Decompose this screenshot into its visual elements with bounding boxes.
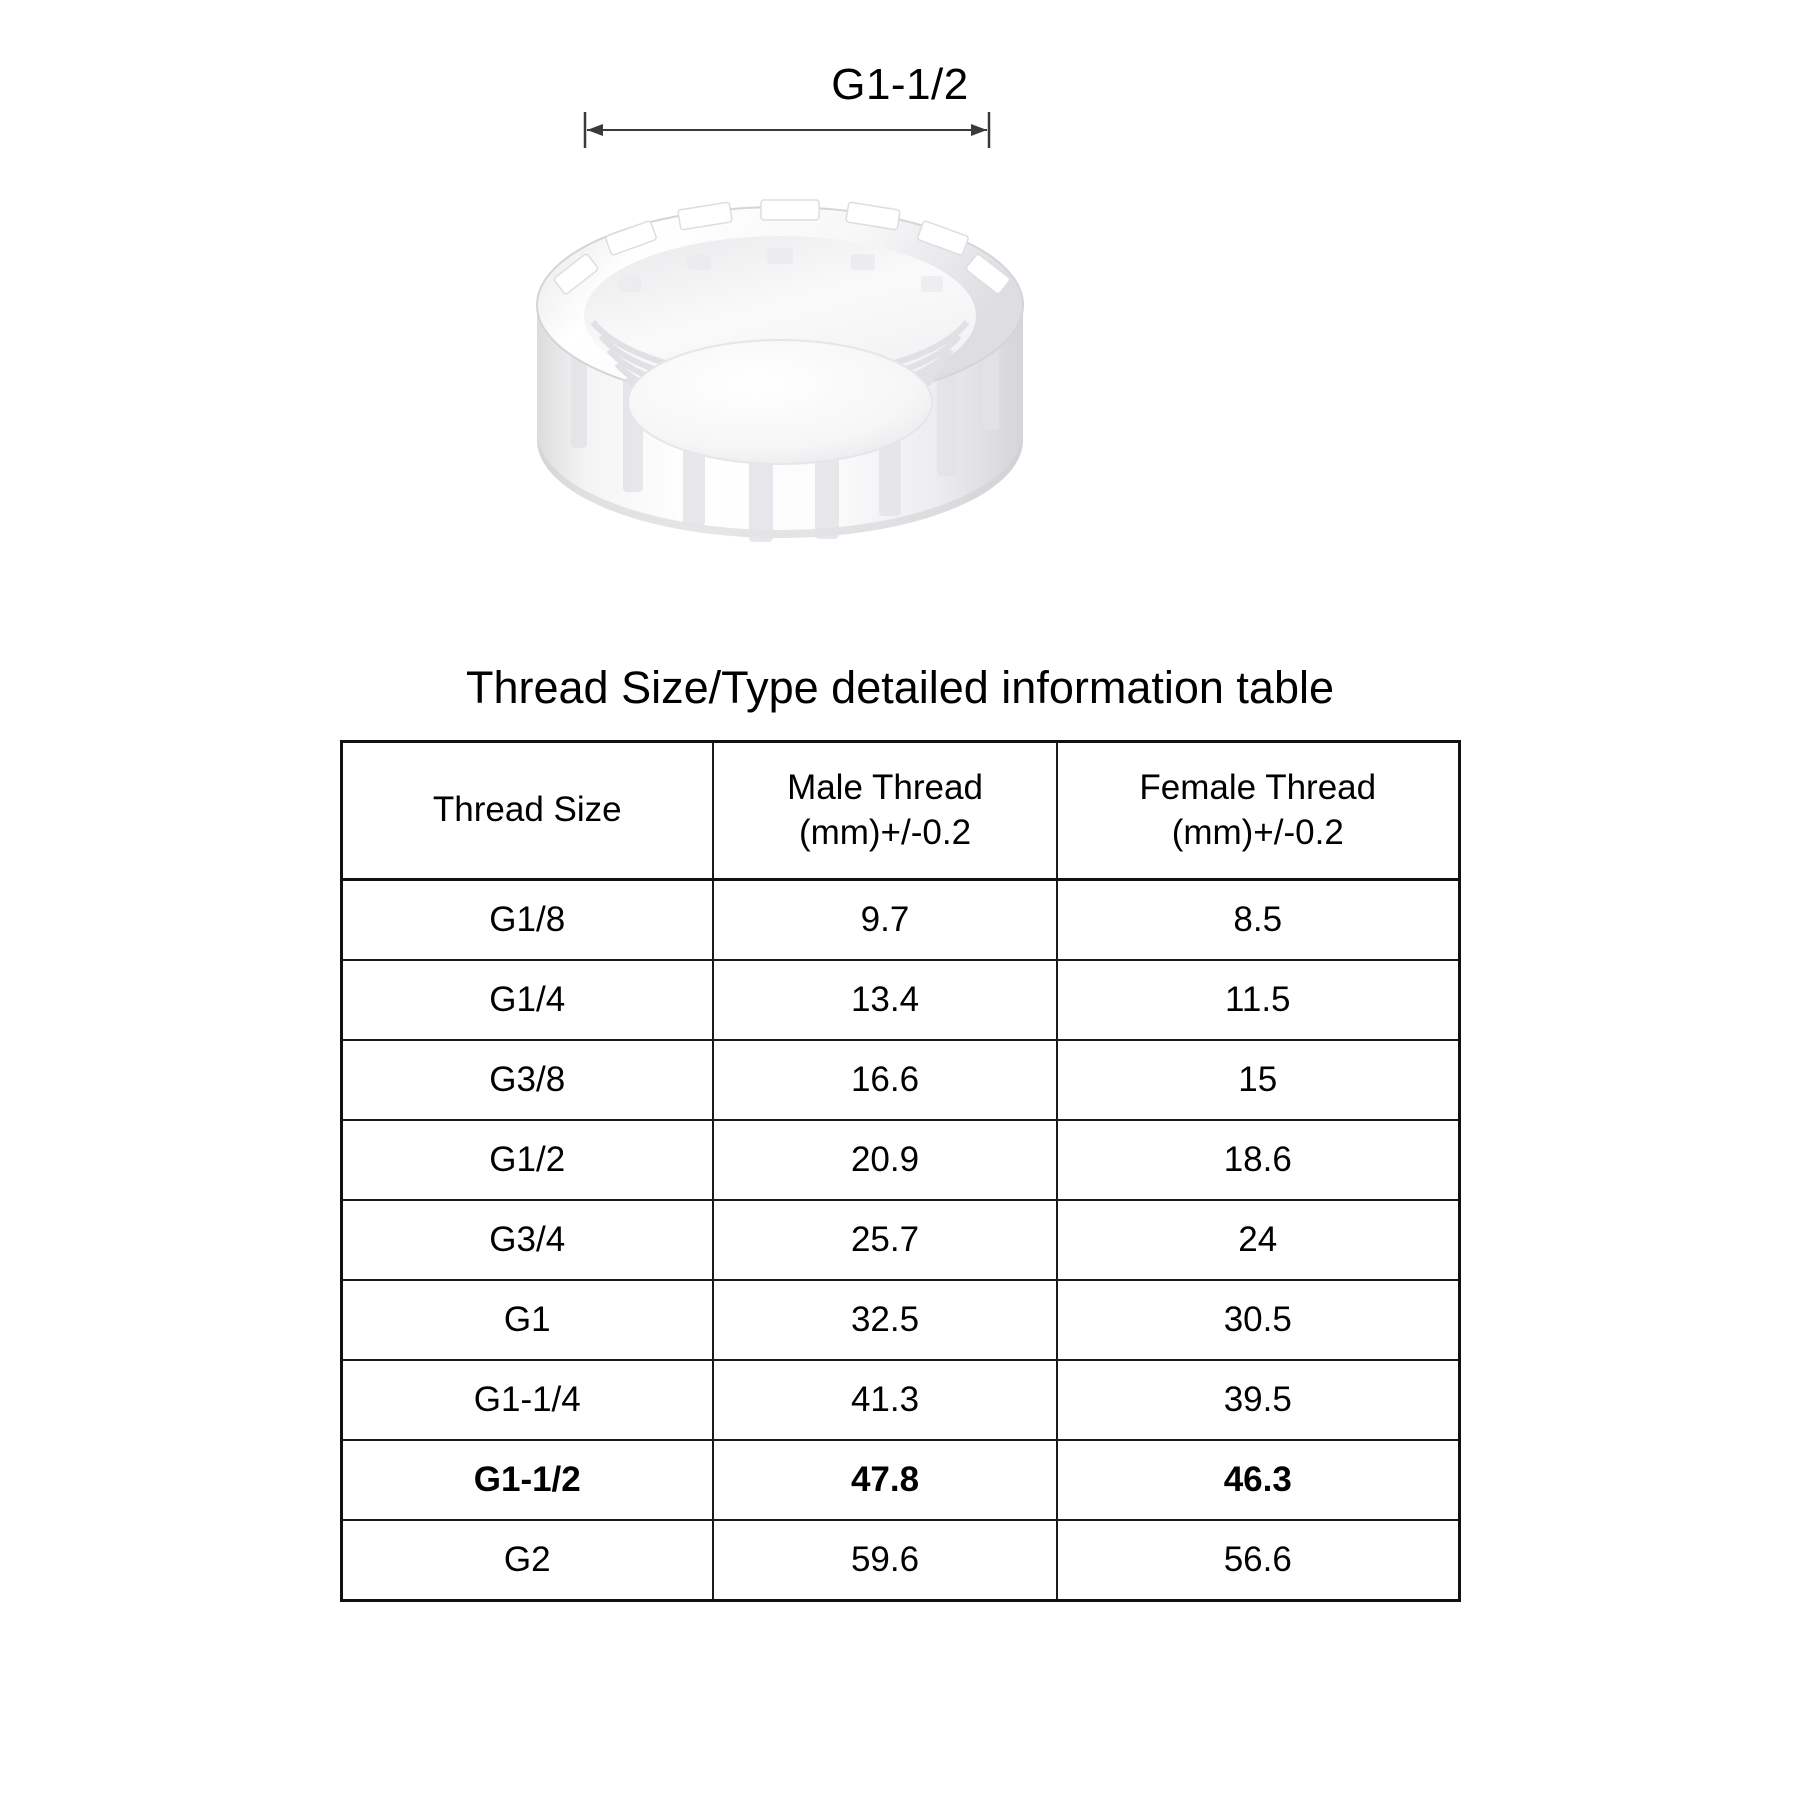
table-row: G259.656.6 — [341, 1520, 1459, 1601]
dimension-label: G1-1/2 — [0, 60, 1800, 110]
header-female-thread-line1: Female Thread — [1058, 766, 1458, 811]
table-header-row: Thread Size Male Thread (mm)+/-0.2 Femal… — [341, 742, 1459, 880]
slip-joint-nut-illustration — [515, 140, 1045, 610]
cell-thread-size: G1/2 — [341, 1120, 713, 1200]
table-title: Thread Size/Type detailed information ta… — [0, 650, 1800, 740]
cell-thread-size: G1-1/2 — [341, 1440, 713, 1520]
table-row: G1-1/247.846.3 — [341, 1440, 1459, 1520]
cell-female-thread: 56.6 — [1057, 1520, 1459, 1601]
table-row: G3/425.724 — [341, 1200, 1459, 1280]
cell-thread-size: G2 — [341, 1520, 713, 1601]
header-male-thread-line2: (mm)+/-0.2 — [714, 811, 1056, 856]
cell-male-thread: 59.6 — [713, 1520, 1057, 1601]
table-row: G3/816.615 — [341, 1040, 1459, 1120]
table-row: G132.530.5 — [341, 1280, 1459, 1360]
cell-thread-size: G3/4 — [341, 1200, 713, 1280]
cell-female-thread: 46.3 — [1057, 1440, 1459, 1520]
cell-male-thread: 20.9 — [713, 1120, 1057, 1200]
cell-female-thread: 15 — [1057, 1040, 1459, 1120]
cell-thread-size: G1/4 — [341, 960, 713, 1040]
cell-female-thread: 18.6 — [1057, 1120, 1459, 1200]
cell-female-thread: 30.5 — [1057, 1280, 1459, 1360]
cell-female-thread: 24 — [1057, 1200, 1459, 1280]
cell-thread-size: G3/8 — [341, 1040, 713, 1120]
cell-male-thread: 32.5 — [713, 1280, 1057, 1360]
table-row: G1/413.411.5 — [341, 960, 1459, 1040]
cell-male-thread: 13.4 — [713, 960, 1057, 1040]
cell-male-thread: 16.6 — [713, 1040, 1057, 1120]
cell-male-thread: 9.7 — [713, 880, 1057, 961]
header-male-thread: Male Thread (mm)+/-0.2 — [713, 742, 1057, 880]
header-male-thread-line1: Male Thread — [714, 766, 1056, 811]
cell-female-thread: 11.5 — [1057, 960, 1459, 1040]
cell-male-thread: 25.7 — [713, 1200, 1057, 1280]
cell-male-thread: 47.8 — [713, 1440, 1057, 1520]
product-image-area: G1-1/2 — [0, 0, 1800, 650]
table-row: G1-1/441.339.5 — [341, 1360, 1459, 1440]
cell-thread-size: G1-1/4 — [341, 1360, 713, 1440]
table-body: G1/89.78.5G1/413.411.5G3/816.615G1/220.9… — [341, 880, 1459, 1601]
table-row: G1/220.918.6 — [341, 1120, 1459, 1200]
cell-thread-size: G1/8 — [341, 880, 713, 961]
cell-female-thread: 8.5 — [1057, 880, 1459, 961]
header-female-thread: Female Thread (mm)+/-0.2 — [1057, 742, 1459, 880]
cell-thread-size: G1 — [341, 1280, 713, 1360]
thread-spec-table: Thread Size Male Thread (mm)+/-0.2 Femal… — [340, 740, 1461, 1602]
header-female-thread-line2: (mm)+/-0.2 — [1058, 811, 1458, 856]
cell-male-thread: 41.3 — [713, 1360, 1057, 1440]
header-thread-size: Thread Size — [341, 742, 713, 880]
spec-table-section: Thread Size/Type detailed information ta… — [0, 650, 1800, 1602]
table-row: G1/89.78.5 — [341, 880, 1459, 961]
cell-female-thread: 39.5 — [1057, 1360, 1459, 1440]
product-photo — [515, 140, 1045, 610]
